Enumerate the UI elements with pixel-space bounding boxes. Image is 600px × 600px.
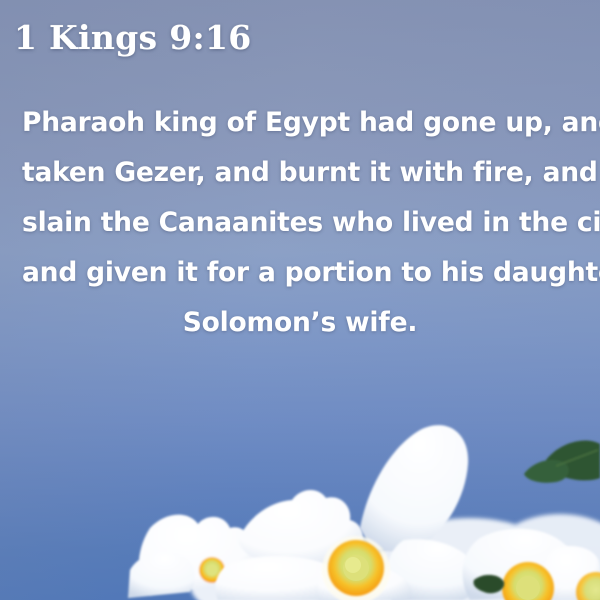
scripture-verse-card: 1 Kings 9:16 Pharaoh king of Egypt had g… [0, 0, 600, 600]
verse-line: taken Gezer, and burnt it with fire, and [22, 148, 578, 198]
verse-line: Pharaoh king of Egypt had gone up, and [22, 98, 578, 148]
verse-line: Solomon’s wife. [22, 298, 578, 348]
verse-line: slain the Canaanites who lived in the ci… [22, 198, 578, 248]
verse-text: Pharaoh king of Egypt had gone up, and t… [0, 98, 600, 348]
verse-line: and given it for a portion to his daught… [22, 248, 578, 298]
page-title: 1 Kings 9:16 [14, 18, 251, 57]
